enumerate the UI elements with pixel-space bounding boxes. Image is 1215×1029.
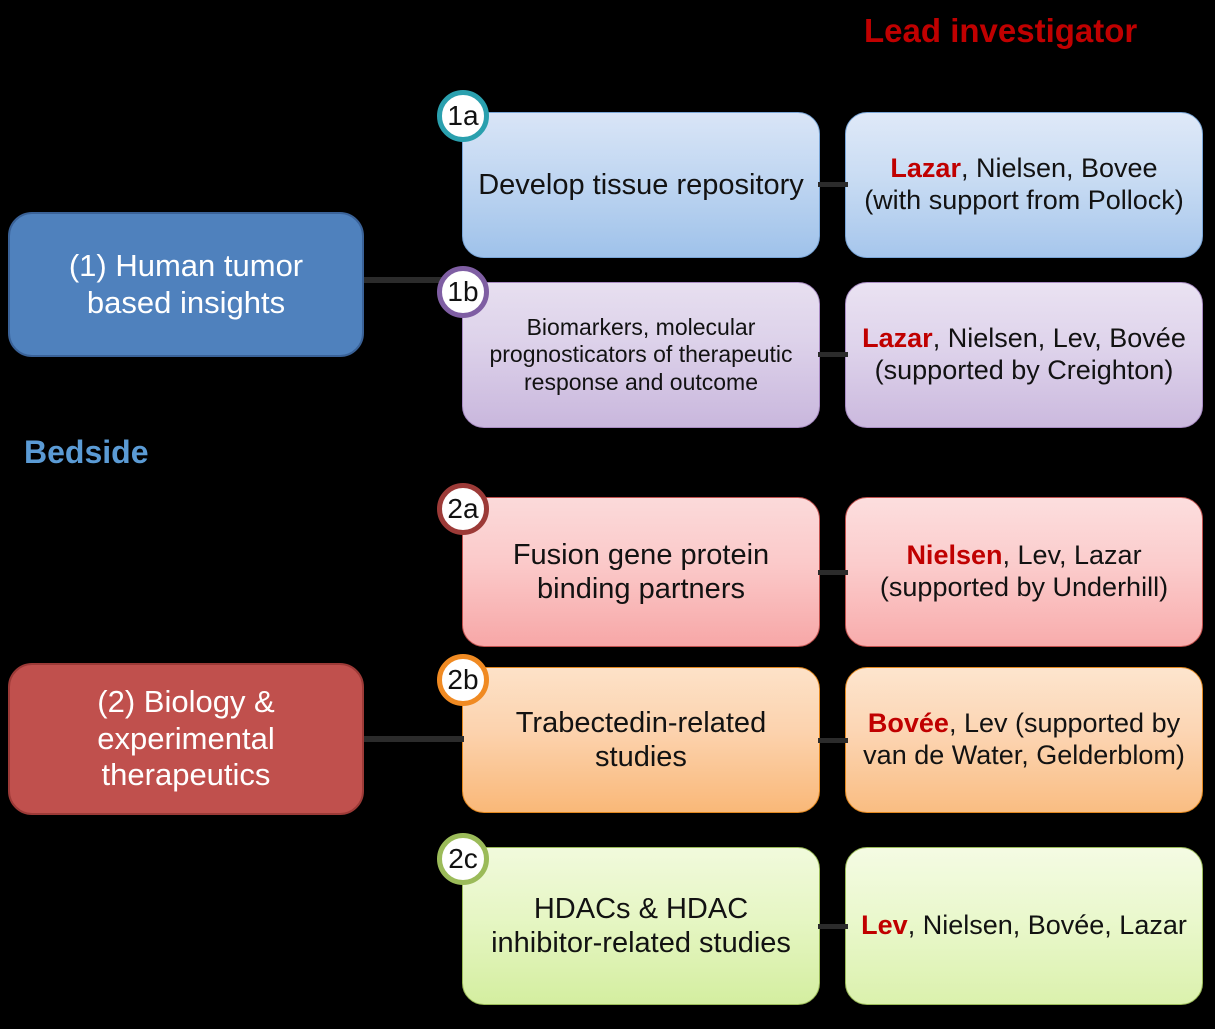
investigator-2b-lead: Bovée <box>868 708 949 738</box>
connector-1a <box>818 182 848 187</box>
investigator-2a-text: Nielsen, Lev, Lazar (supported by Underh… <box>860 540 1188 604</box>
aim-box-2a[interactable]: Fusion gene protein binding partners <box>462 497 820 647</box>
aim-1b-label: Biomarkers, molecular prognosticators of… <box>477 314 805 395</box>
investigator-2a-lead: Nielsen <box>906 540 1002 570</box>
investigator-box-1b[interactable]: Lazar, Nielsen, Lev, Bovée (supported by… <box>845 282 1203 428</box>
aim-box-1b[interactable]: Biomarkers, molecular prognosticators of… <box>462 282 820 428</box>
investigator-1a-text: Lazar, Nielsen, Bovee (with support from… <box>860 153 1188 217</box>
lead-investigator-header: Lead investigator <box>864 12 1137 50</box>
badge-2c-label: 2c <box>448 843 478 875</box>
pillar-2-label: (2) Biology & experimental therapeutics <box>24 684 348 794</box>
badge-1b-label: 1b <box>447 276 478 308</box>
investigator-2b-text: Bovée, Lev (supported by van de Water, G… <box>860 708 1188 772</box>
badge-1a-label: 1a <box>447 100 478 132</box>
investigator-1b-text: Lazar, Nielsen, Lev, Bovée (supported by… <box>860 323 1188 387</box>
connector-2c <box>818 924 848 929</box>
axis-label-bedside-top: Bedside <box>24 434 148 471</box>
investigator-2c-rest: , Nielsen, Bovée, Lazar <box>908 910 1187 940</box>
investigator-box-1a[interactable]: Lazar, Nielsen, Bovee (with support from… <box>845 112 1203 258</box>
aim-2c-label: HDACs & HDAC inhibitor-related studies <box>477 892 805 960</box>
aim-box-2c[interactable]: HDACs & HDAC inhibitor-related studies <box>462 847 820 1005</box>
investigator-1a-lead: Lazar <box>890 153 961 183</box>
investigator-2c-lead: Lev <box>861 910 908 940</box>
pillar-box-human-tumor-insights[interactable]: (1) Human tumor based insights <box>8 212 364 357</box>
investigator-box-2a[interactable]: Nielsen, Lev, Lazar (supported by Underh… <box>845 497 1203 647</box>
connector-2a <box>818 570 848 575</box>
aim-2b-label: Trabectedin-related studies <box>477 706 805 774</box>
axis-label-bedside-bottom: bedside <box>0 0 60 18</box>
investigator-2c-text: Lev, Nielsen, Bovée, Lazar <box>861 910 1187 942</box>
badge-2c[interactable]: 2c <box>437 833 489 885</box>
investigator-1b-lead: Lazar <box>862 323 933 353</box>
badge-2a[interactable]: 2a <box>437 483 489 535</box>
investigator-box-2c[interactable]: Lev, Nielsen, Bovée, Lazar <box>845 847 1203 1005</box>
aim-2a-label: Fusion gene protein binding partners <box>477 538 805 606</box>
badge-2b[interactable]: 2b <box>437 654 489 706</box>
aim-box-2b[interactable]: Trabectedin-related studies <box>462 667 820 813</box>
connector-1b <box>818 352 848 357</box>
connector-2b <box>818 738 848 743</box>
badge-1b[interactable]: 1b <box>437 266 489 318</box>
badge-2a-label: 2a <box>447 493 478 525</box>
badge-1a[interactable]: 1a <box>437 90 489 142</box>
pillar-1-label: (1) Human tumor based insights <box>24 248 348 321</box>
aim-box-1a[interactable]: Develop tissue repository <box>462 112 820 258</box>
diagram-canvas: Lead investigator (1) Human tumor based … <box>0 0 1215 1029</box>
badge-2b-label: 2b <box>447 664 478 696</box>
investigator-box-2b[interactable]: Bovée, Lev (supported by van de Water, G… <box>845 667 1203 813</box>
pillar-box-biology-experimental-therapeutics[interactable]: (2) Biology & experimental therapeutics <box>8 663 364 815</box>
connector-pillar2 <box>364 736 464 742</box>
aim-1a-label: Develop tissue repository <box>478 168 804 202</box>
